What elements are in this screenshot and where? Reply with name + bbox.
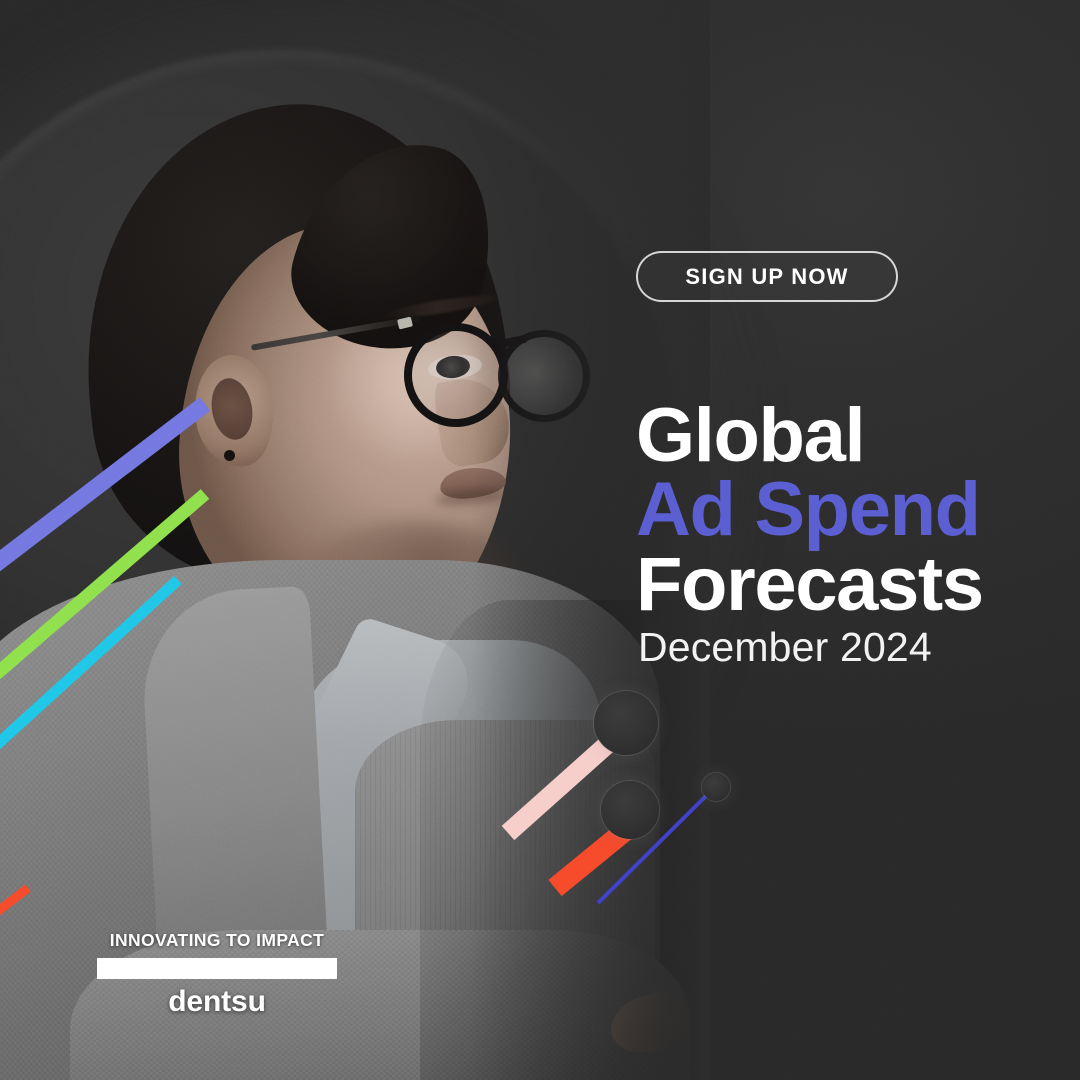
brand-tagline: INNOVATING TO IMPACT [97,930,337,951]
sign-up-now-label: SIGN UP NOW [685,264,848,290]
page-subtitle-date: December 2024 [638,624,932,671]
page-title: Global Ad Spend Forecasts [636,399,1056,622]
poster-canvas: SIGN UP NOW Global Ad Spend Forecasts De… [0,0,1080,1080]
dentsu-logo-lockup: INNOVATING TO IMPACT dentsu [97,930,337,1019]
content-column: SIGN UP NOW Global Ad Spend Forecasts De… [636,0,1056,1080]
page-title-line-3: Forecasts [636,548,1056,622]
dentsu-wordmark: dentsu [97,985,337,1019]
page-title-line-2-highlight: Ad Spend [636,473,1056,547]
page-title-line-1: Global [636,399,1056,473]
sign-up-now-button[interactable]: SIGN UP NOW [636,251,898,302]
portrait-earring [224,450,235,461]
logo-divider-bar [97,958,337,979]
